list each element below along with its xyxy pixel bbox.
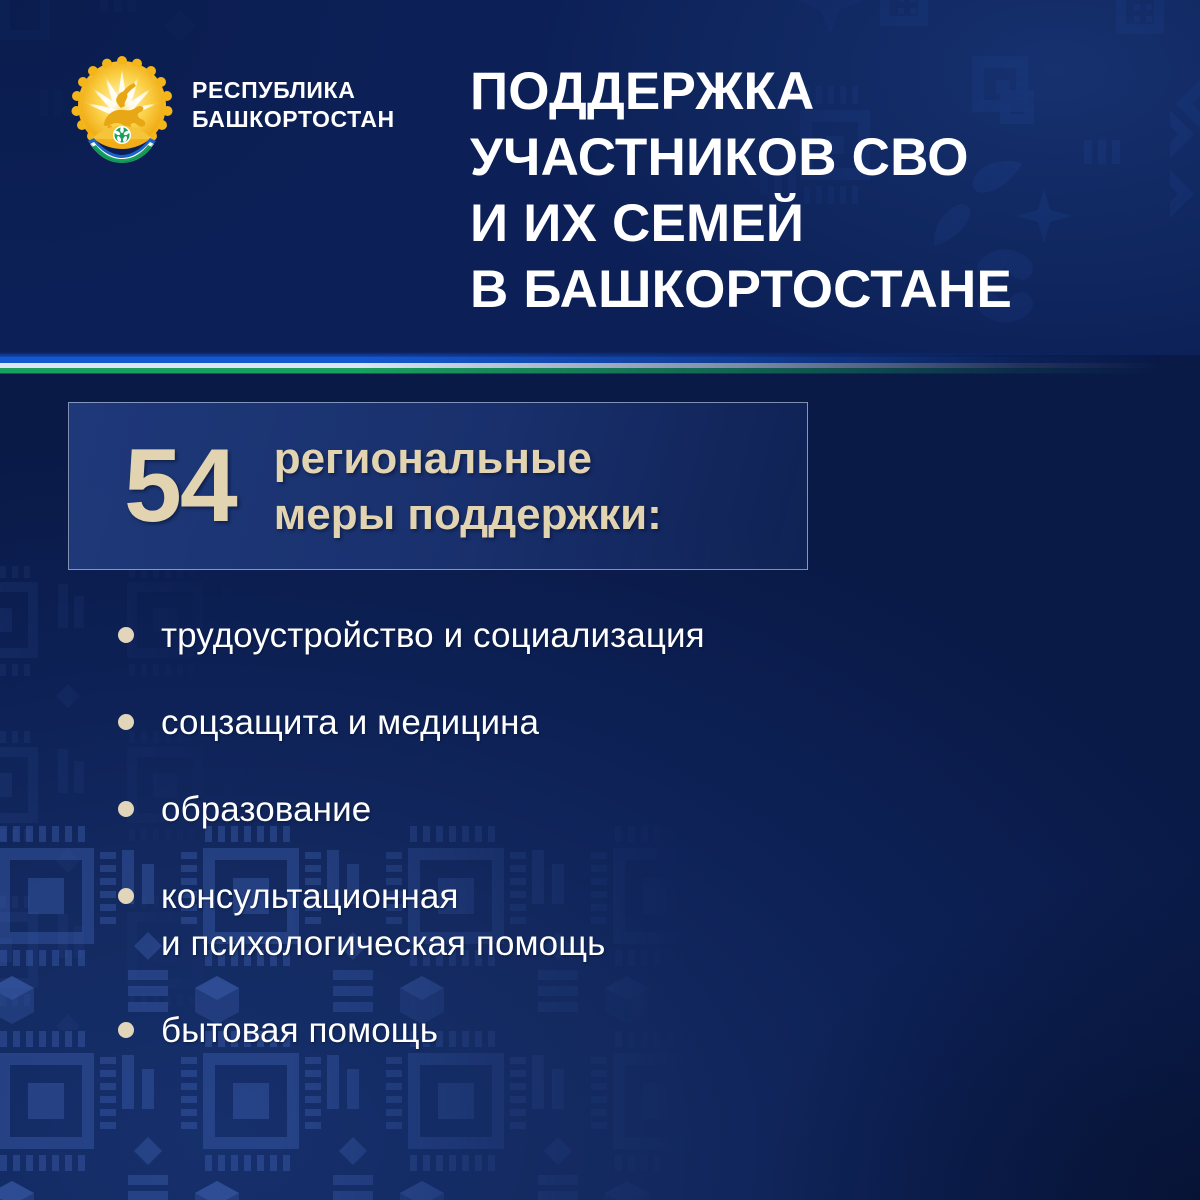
bashkortostan-coat-of-arms-icon bbox=[68, 55, 176, 167]
title-line-4: В БАШКОРТОСТАНЕ bbox=[470, 257, 1170, 323]
list-item-text: трудоустройство и социализация bbox=[161, 612, 705, 659]
list-item: трудоустройство и социализация bbox=[118, 612, 1018, 659]
bullet-dot-icon bbox=[118, 801, 134, 817]
list-item-text: консультационная и психологическая помощ… bbox=[161, 873, 605, 967]
list-item-text: образование bbox=[161, 786, 371, 833]
list-item-line: образование bbox=[161, 786, 371, 833]
list-item-text: соцзащита и медицина bbox=[161, 699, 539, 746]
infographic-poster: РЕСПУБЛИКА БАШКОРТОСТАН ПОДДЕРЖКА УЧАСТН… bbox=[0, 0, 1200, 1200]
brand-line-1: РЕСПУБЛИКА bbox=[192, 76, 395, 105]
count-label-line-2: меры поддержки: bbox=[274, 487, 662, 543]
bullet-dot-icon bbox=[118, 1022, 134, 1038]
list-item-line: бытовая помощь bbox=[161, 1007, 438, 1054]
title-line-2: УЧАСТНИКОВ СВО bbox=[470, 125, 1170, 191]
brand-name: РЕСПУБЛИКА БАШКОРТОСТАН bbox=[192, 76, 395, 134]
list-item-line: трудоустройство и социализация bbox=[161, 612, 705, 659]
list-item-line: соцзащита и медицина bbox=[161, 699, 539, 746]
list-item: бытовая помощь bbox=[118, 1007, 1018, 1054]
list-item: соцзащита и медицина bbox=[118, 699, 1018, 746]
title-line-1: ПОДДЕРЖКА bbox=[470, 59, 1170, 125]
measures-count-number: 54 bbox=[124, 434, 236, 538]
measures-list: трудоустройство и социализация соцзащита… bbox=[118, 612, 1018, 1094]
title-line-3: И ИХ СЕМЕЙ bbox=[470, 191, 1170, 257]
list-item-line: и психологическая помощь bbox=[161, 920, 605, 967]
measures-count-box: 54 региональные меры поддержки: bbox=[68, 402, 808, 570]
list-item: консультационная и психологическая помощ… bbox=[118, 873, 1018, 967]
page-title: ПОДДЕРЖКА УЧАСТНИКОВ СВО И ИХ СЕМЕЙ В БА… bbox=[470, 59, 1170, 323]
list-item-line: консультационная bbox=[161, 873, 605, 920]
bullet-dot-icon bbox=[118, 627, 134, 643]
list-item-text: бытовая помощь bbox=[161, 1007, 438, 1054]
list-item: образование bbox=[118, 786, 1018, 833]
flag-tricolor-divider bbox=[0, 352, 1200, 374]
measures-count-label: региональные меры поддержки: bbox=[274, 431, 662, 543]
brand-line-2: БАШКОРТОСТАН bbox=[192, 105, 395, 134]
bullet-dot-icon bbox=[118, 888, 134, 904]
count-label-line-1: региональные bbox=[274, 431, 662, 487]
bullet-dot-icon bbox=[118, 714, 134, 730]
